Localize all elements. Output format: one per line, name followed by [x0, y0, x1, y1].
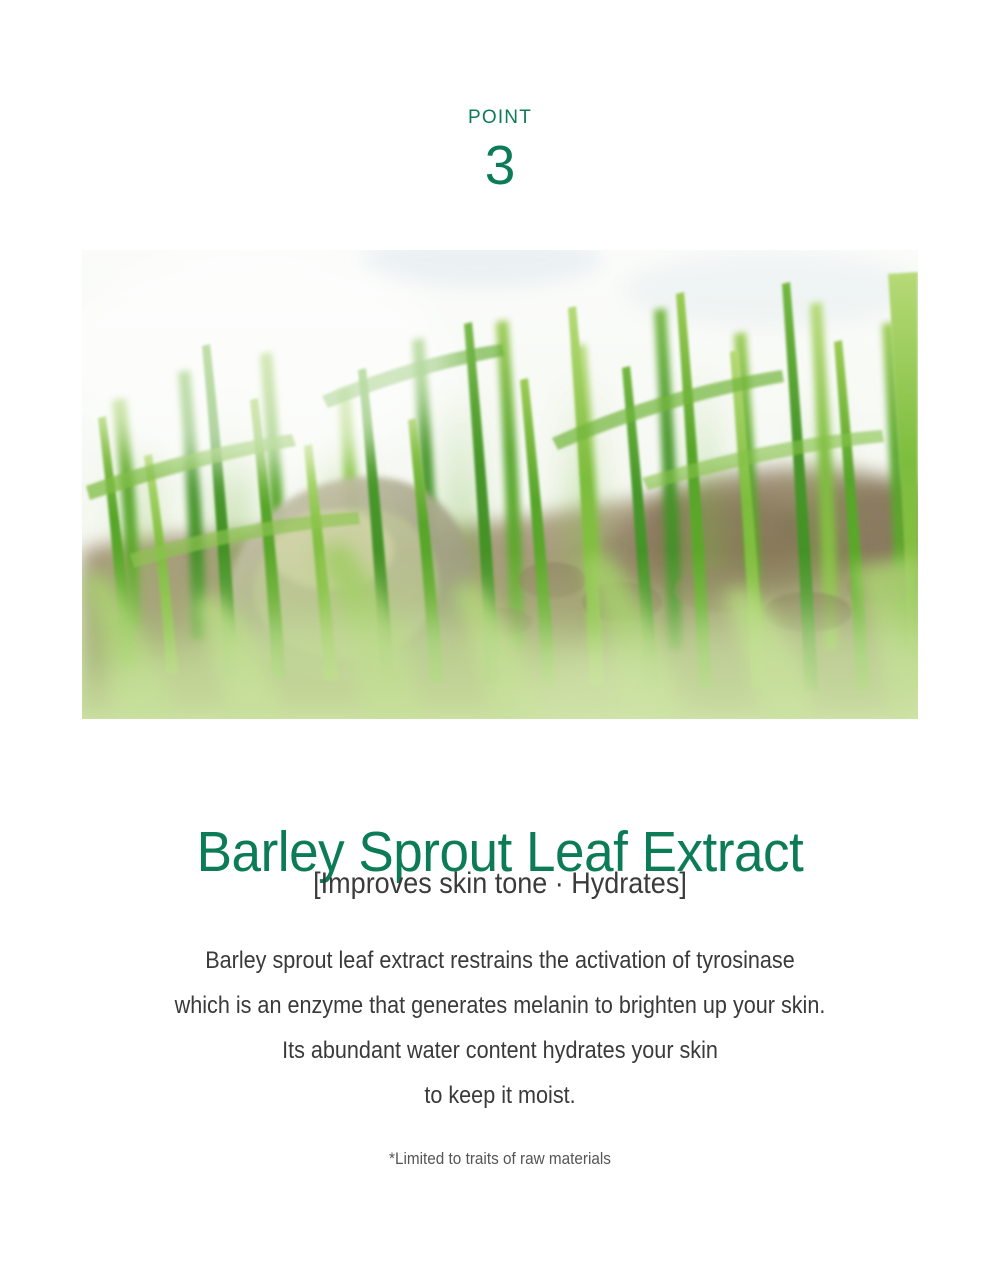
description-line: Barley sprout leaf extract restrains the…	[50, 938, 950, 983]
point-label: POINT	[0, 108, 1000, 127]
point-number: 3	[0, 137, 1000, 195]
barley-sprout-field-photo	[82, 250, 918, 719]
description-line: to keep it moist.	[50, 1073, 950, 1118]
point-header: POINT 3	[0, 108, 1000, 195]
product-detail-page: POINT 3	[0, 0, 1000, 1266]
subtitle-benefits: [Improves skin tone · Hydrates]	[50, 866, 950, 902]
description-block: Barley sprout leaf extract restrains the…	[0, 938, 1000, 1118]
description-line: Its abundant water content hydrates your…	[50, 1028, 950, 1073]
description-line: which is an enzyme that generates melani…	[50, 983, 950, 1028]
disclaimer-note: *Limited to traits of raw materials	[50, 1148, 950, 1170]
